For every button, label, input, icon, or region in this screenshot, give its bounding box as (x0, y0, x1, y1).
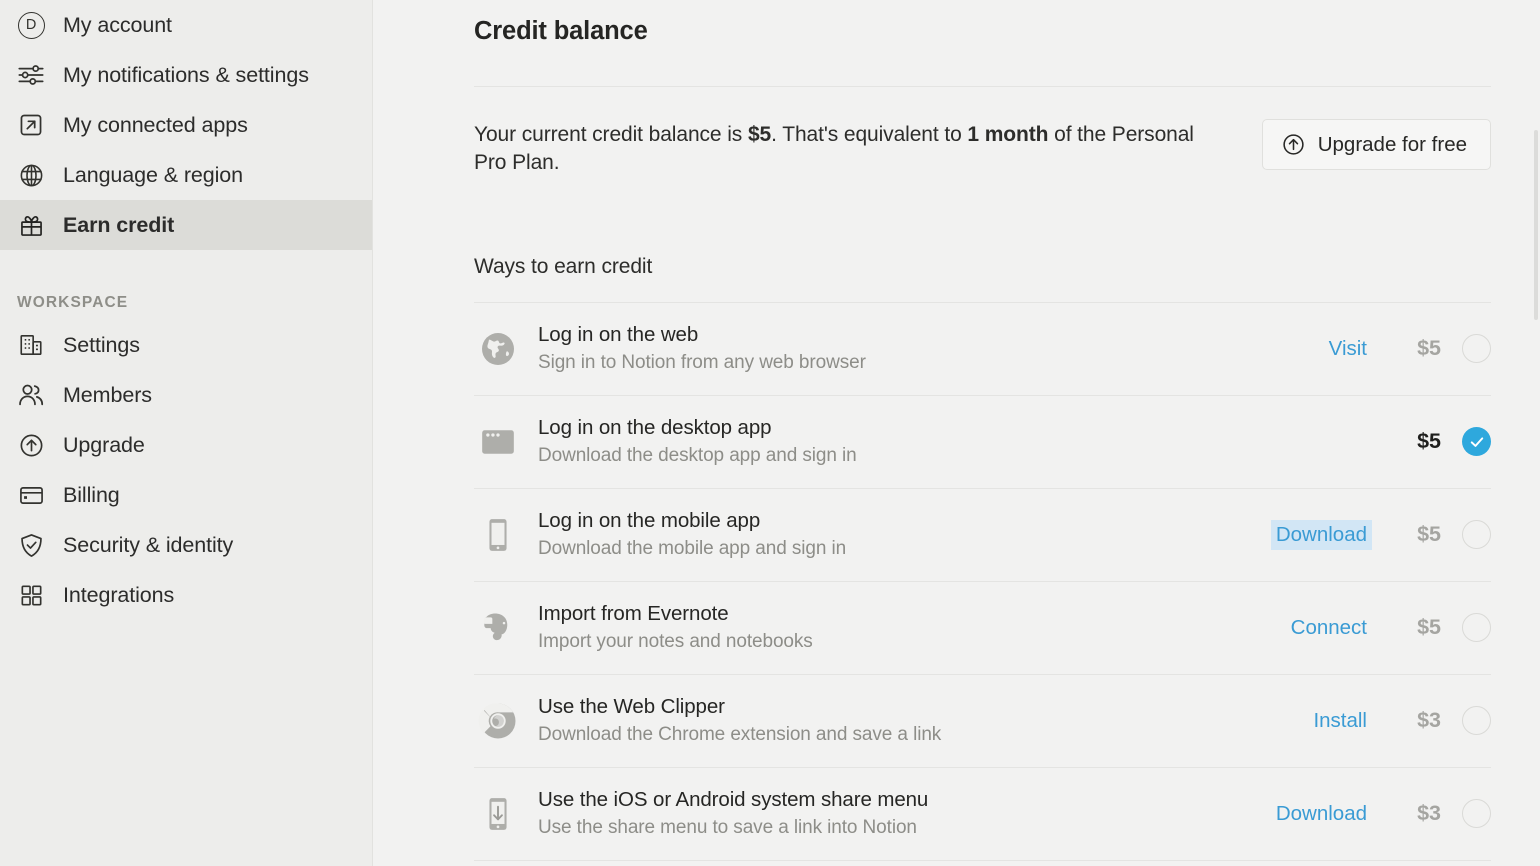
row-amount: $5 (1393, 429, 1441, 454)
sidebar-item-my-connected-apps[interactable]: My connected apps (0, 100, 372, 150)
row-subtitle: Download the Chrome extension and save a… (538, 722, 1313, 749)
row-title: Log in on the desktop app (538, 414, 1367, 442)
row-subtitle: Sign in to Notion from any web browser (538, 350, 1329, 377)
sidebar-item-my-notifications-settings[interactable]: My notifications & settings (0, 50, 372, 100)
balance-duration: 1 month (967, 123, 1048, 146)
sidebar-item-label: Settings (63, 333, 140, 358)
row-status-indicator[interactable] (1462, 427, 1491, 456)
settings-page: D My account My notifications & settings (0, 0, 1540, 866)
title-divider (474, 86, 1491, 87)
sidebar-item-language-region[interactable]: Language & region (0, 150, 372, 200)
table-row[interactable]: Use the iOS or Android system share menu… (474, 768, 1491, 860)
credit-card-icon (16, 480, 46, 510)
page-title: Credit balance (474, 10, 1490, 45)
row-divider (474, 860, 1491, 861)
desktop-window-icon (477, 421, 519, 463)
settings-main-panel: Credit balance Your current credit balan… (373, 0, 1540, 866)
upgrade-for-free-button[interactable]: Upgrade for free (1262, 119, 1491, 170)
mobile-download-icon (477, 793, 519, 835)
sidebar-item-label: My notifications & settings (63, 63, 309, 88)
external-link-icon (16, 110, 46, 140)
table-row[interactable]: Import from Evernote Import your notes a… (474, 582, 1491, 674)
table-row[interactable]: Use the Web Clipper Download the Chrome … (474, 675, 1491, 767)
sidebar-item-members[interactable]: Members (0, 370, 372, 420)
sidebar-item-my-account[interactable]: D My account (0, 0, 372, 50)
sidebar-section-workspace: WORKSPACE (0, 274, 372, 320)
balance-prefix: Your current credit balance is (474, 123, 748, 146)
row-status-indicator[interactable] (1462, 706, 1491, 735)
sliders-icon (16, 60, 46, 90)
vertical-scrollbar[interactable] (1534, 130, 1538, 320)
sidebar-gap (0, 250, 372, 274)
row-title: Use the Web Clipper (538, 693, 1313, 721)
row-amount: $3 (1393, 708, 1441, 733)
sidebar-item-label: My account (63, 13, 172, 38)
sidebar-item-label: Members (63, 383, 152, 408)
avatar-letter: D (18, 12, 45, 39)
balance-amount: $5 (748, 123, 771, 146)
sidebar-item-billing[interactable]: Billing (0, 470, 372, 520)
gift-icon (16, 210, 46, 240)
sidebar-item-security-identity[interactable]: Security & identity (0, 520, 372, 570)
settings-sidebar: D My account My notifications & settings (0, 0, 373, 866)
table-row[interactable]: Log in on the mobile app Download the mo… (474, 489, 1491, 581)
table-row[interactable]: Log in on the desktop app Download the d… (474, 396, 1491, 488)
sidebar-item-settings[interactable]: Settings (0, 320, 372, 370)
sidebar-item-label: Upgrade (63, 433, 145, 458)
credit-balance-section: Your current credit balance is $5. That'… (474, 121, 1491, 177)
balance-middle: . That's equivalent to (771, 123, 967, 146)
row-amount: $3 (1393, 801, 1441, 826)
row-body: Log in on the desktop app Download the d… (538, 414, 1367, 470)
sidebar-item-label: Earn credit (63, 213, 174, 238)
mobile-phone-icon (477, 514, 519, 556)
ways-to-earn-credit-list: Log in on the web Sign in to Notion from… (474, 302, 1491, 861)
row-title: Log in on the web (538, 321, 1329, 349)
row-status-indicator[interactable] (1462, 520, 1491, 549)
ways-to-earn-credit-heading: Ways to earn credit (474, 255, 1490, 279)
row-body: Import from Evernote Import your notes a… (538, 600, 1291, 656)
sidebar-item-label: Security & identity (63, 533, 233, 558)
sidebar-item-label: Billing (63, 483, 120, 508)
building-icon (16, 330, 46, 360)
row-amount: $5 (1393, 615, 1441, 640)
sidebar-item-label: My connected apps (63, 113, 248, 138)
row-subtitle: Use the share menu to save a link into N… (538, 815, 1276, 842)
evernote-elephant-icon (477, 607, 519, 649)
row-amount: $5 (1393, 336, 1441, 361)
row-title: Import from Evernote (538, 600, 1291, 628)
sidebar-item-upgrade[interactable]: Upgrade (0, 420, 372, 470)
row-body: Use the Web Clipper Download the Chrome … (538, 693, 1313, 749)
chrome-icon (477, 700, 519, 742)
globe-icon (16, 160, 46, 190)
sidebar-item-integrations[interactable]: Integrations (0, 570, 372, 620)
row-title: Use the iOS or Android system share menu (538, 786, 1276, 814)
row-action-link[interactable]: Install (1313, 709, 1367, 733)
row-status-indicator[interactable] (1462, 613, 1491, 642)
row-amount: $5 (1393, 522, 1441, 547)
people-icon (16, 380, 46, 410)
row-action-link[interactable]: Download (1276, 802, 1367, 826)
sidebar-item-label: Integrations (63, 583, 174, 608)
credit-balance-description: Your current credit balance is $5. That'… (474, 121, 1219, 177)
sidebar-item-label: Language & region (63, 163, 243, 188)
check-icon (1468, 433, 1486, 451)
row-action-link[interactable]: Connect (1291, 616, 1367, 640)
row-title: Log in on the mobile app (538, 507, 1271, 535)
row-body: Log in on the web Sign in to Notion from… (538, 321, 1329, 377)
globe-filled-icon (477, 328, 519, 370)
avatar-d-icon: D (16, 10, 46, 40)
table-row[interactable]: Log in on the web Sign in to Notion from… (474, 303, 1491, 395)
row-body: Use the iOS or Android system share menu… (538, 786, 1276, 842)
row-status-indicator[interactable] (1462, 334, 1491, 363)
arrow-up-circle-icon (1281, 132, 1306, 157)
grid-squares-icon (16, 580, 46, 610)
row-action-link[interactable]: Download (1271, 520, 1372, 550)
row-body: Log in on the mobile app Download the mo… (538, 507, 1271, 563)
shield-check-icon (16, 530, 46, 560)
arrow-up-circle-icon (16, 430, 46, 460)
upgrade-button-label: Upgrade for free (1318, 133, 1467, 157)
row-status-indicator[interactable] (1462, 799, 1491, 828)
row-subtitle: Import your notes and notebooks (538, 629, 1291, 656)
row-subtitle: Download the mobile app and sign in (538, 536, 1271, 563)
row-action-link[interactable]: Visit (1329, 337, 1367, 361)
row-subtitle: Download the desktop app and sign in (538, 443, 1367, 470)
sidebar-item-earn-credit[interactable]: Earn credit (0, 200, 372, 250)
